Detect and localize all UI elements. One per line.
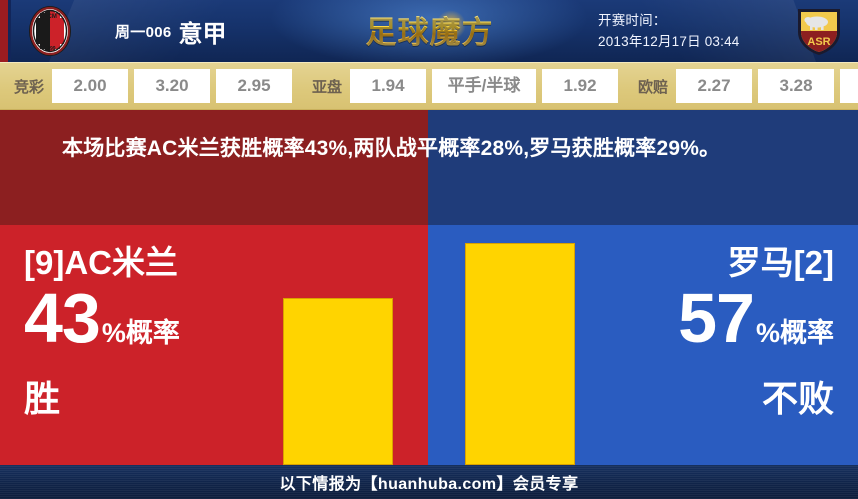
svg-text:1899: 1899 bbox=[44, 46, 55, 52]
footer-text: 以下情报为【huanhuba.com】会员专享 bbox=[280, 470, 579, 494]
home-team-name: [9]AC米兰 bbox=[24, 243, 274, 283]
kickoff-label: 开赛时间： bbox=[598, 10, 740, 31]
footer-bar: 以下情报为【huanhuba.com】会员专享 bbox=[0, 465, 858, 499]
kickoff-info: 开赛时间： 2013年12月17日 03:44 bbox=[598, 10, 740, 52]
odds-group-title: 欧赔 bbox=[638, 76, 668, 97]
odds-group-yapan: 亚盘 1.94 平手/半球 1.92 bbox=[298, 63, 624, 109]
odds-cell[interactable]: 2.00 bbox=[52, 69, 128, 103]
odds-group-oupei: 欧赔 2.27 3.28 3.06 bbox=[624, 63, 858, 109]
away-probability-unit: %概率 bbox=[756, 318, 834, 348]
away-probability-value: 57 bbox=[678, 279, 754, 357]
away-team-name: 罗马[2] bbox=[584, 243, 834, 283]
odds-bar: 竞彩 2.00 3.20 2.95 亚盘 1.94 平手/半球 1.92 欧赔 … bbox=[0, 62, 858, 110]
as-roma-crest-icon: ASR bbox=[795, 6, 843, 56]
odds-cell[interactable]: 3.28 bbox=[758, 69, 834, 103]
header-left-blue-edge bbox=[8, 0, 11, 62]
home-probability-unit: %概率 bbox=[102, 318, 180, 348]
home-probability-bar bbox=[283, 298, 393, 465]
odds-cell[interactable]: 2.27 bbox=[676, 69, 752, 103]
odds-group-title: 竞彩 bbox=[14, 76, 44, 97]
match-probability-infographic: ACM 1899 周一006意甲 足球魔方 开赛时间： 2013年12月17日 … bbox=[0, 0, 858, 499]
svg-text:ACM: ACM bbox=[43, 14, 57, 20]
header-left-red-edge bbox=[0, 0, 8, 62]
ac-milan-crest-icon: ACM 1899 bbox=[25, 5, 75, 57]
odds-cell[interactable]: 1.94 bbox=[350, 69, 426, 103]
odds-cell[interactable]: 3.20 bbox=[134, 69, 210, 103]
away-team-block: 罗马[2] 57%概率 不败 bbox=[584, 243, 834, 421]
home-team-block: [9]AC米兰 43%概率 胜 bbox=[24, 243, 274, 421]
league-name: 意甲 bbox=[179, 21, 227, 48]
match-number: 周一006 bbox=[115, 24, 172, 41]
site-logo: 足球魔方 bbox=[341, 4, 518, 58]
home-outcome-label: 胜 bbox=[24, 377, 274, 421]
away-probability-bar bbox=[465, 243, 575, 465]
site-logo-text: 足球魔方 bbox=[341, 7, 518, 52]
odds-group-title: 亚盘 bbox=[312, 76, 342, 97]
odds-group-jingcai: 竞彩 2.00 3.20 2.95 bbox=[0, 63, 298, 109]
odds-cell[interactable]: 1.92 bbox=[542, 69, 618, 103]
odds-cell-handicap[interactable]: 平手/半球 bbox=[432, 69, 536, 103]
odds-cell[interactable]: 2.95 bbox=[216, 69, 292, 103]
home-probability-line: 43%概率 bbox=[24, 281, 274, 375]
probability-chart: [9]AC米兰 43%概率 胜 罗马[2] 57%概率 不败 bbox=[0, 225, 858, 465]
header-bar: ACM 1899 周一006意甲 足球魔方 开赛时间： 2013年12月17日 … bbox=[0, 0, 858, 62]
kickoff-time: 2013年12月17日 03:44 bbox=[598, 31, 740, 52]
away-outcome-label: 不败 bbox=[584, 377, 834, 421]
home-probability-value: 43 bbox=[24, 279, 100, 357]
summary-band: 本场比赛AC米兰获胜概率43%,两队战平概率28%,罗马获胜概率29%。 bbox=[0, 110, 858, 225]
summary-band-blue-half bbox=[428, 110, 858, 225]
summary-band-red-half bbox=[0, 110, 428, 225]
odds-cell[interactable]: 3.06 bbox=[840, 69, 858, 103]
match-title: 周一006意甲 bbox=[115, 14, 227, 49]
summary-text: 本场比赛AC米兰获胜概率43%,两队战平概率28%,罗马获胜概率29%。 bbox=[62, 132, 802, 165]
svg-text:ASR: ASR bbox=[807, 36, 830, 48]
away-probability-line: 57%概率 bbox=[584, 281, 834, 375]
